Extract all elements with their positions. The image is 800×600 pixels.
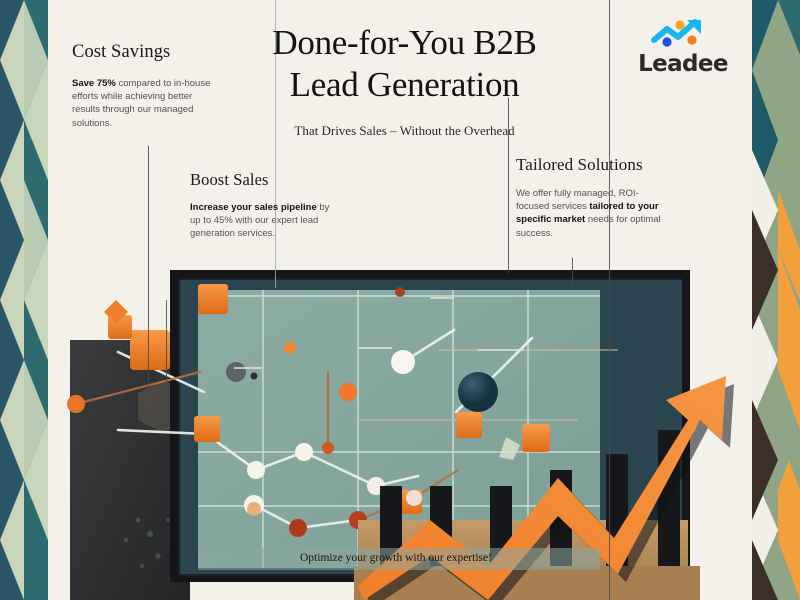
feature-body-bold-cost: Save 75%	[72, 78, 116, 89]
brand-name: Leadee	[628, 51, 738, 77]
left-edge-gap	[48, 0, 58, 600]
connector-line-right	[609, 0, 610, 600]
connector-line-node	[572, 258, 573, 288]
page-title: Done-for-You B2B Lead Generation That Dr…	[232, 22, 577, 139]
feature-title-tailored: Tailored Solutions	[516, 155, 666, 175]
feature-title-boost-sales: Boost Sales	[190, 170, 330, 190]
feature-title-cost-savings: Cost Savings	[72, 42, 222, 63]
right-edge-pattern	[752, 0, 800, 600]
feature-block-cost-savings: Cost Savings Save 75% compared to in-hou…	[72, 42, 222, 130]
headline-line-2: Lead Generation	[232, 64, 577, 106]
right-edge-gap	[742, 0, 752, 600]
screen-caption: Optimize your growth with our expertise!	[300, 552, 492, 564]
headline-line-1: Done-for-You B2B	[232, 22, 577, 64]
poster-canvas: Done-for-You B2B Lead Generation That Dr…	[0, 0, 800, 600]
feature-block-tailored-solutions: Tailored Solutions We offer fully manage…	[516, 155, 666, 240]
headline-subtitle: That Drives Sales – Without the Overhead	[232, 123, 577, 139]
connector-line-cost-2	[166, 300, 167, 410]
feature-body-tailored: We offer fully managed, ROI-focused serv…	[516, 187, 666, 240]
brand-logo[interactable]: Leadee	[628, 16, 738, 77]
feature-body-bold-boost: Increase your sales pipeline	[190, 202, 317, 213]
connector-line-cost	[148, 146, 149, 408]
feature-block-boost-sales: Boost Sales Increase your sales pipeline…	[190, 170, 330, 241]
feature-body-cost-savings: Save 75% compared to in-house efforts wh…	[72, 77, 222, 130]
growth-arrow-icon	[651, 16, 715, 50]
feature-body-boost-sales: Increase your sales pipeline by up to 45…	[190, 201, 330, 241]
left-edge-pattern	[0, 0, 48, 600]
